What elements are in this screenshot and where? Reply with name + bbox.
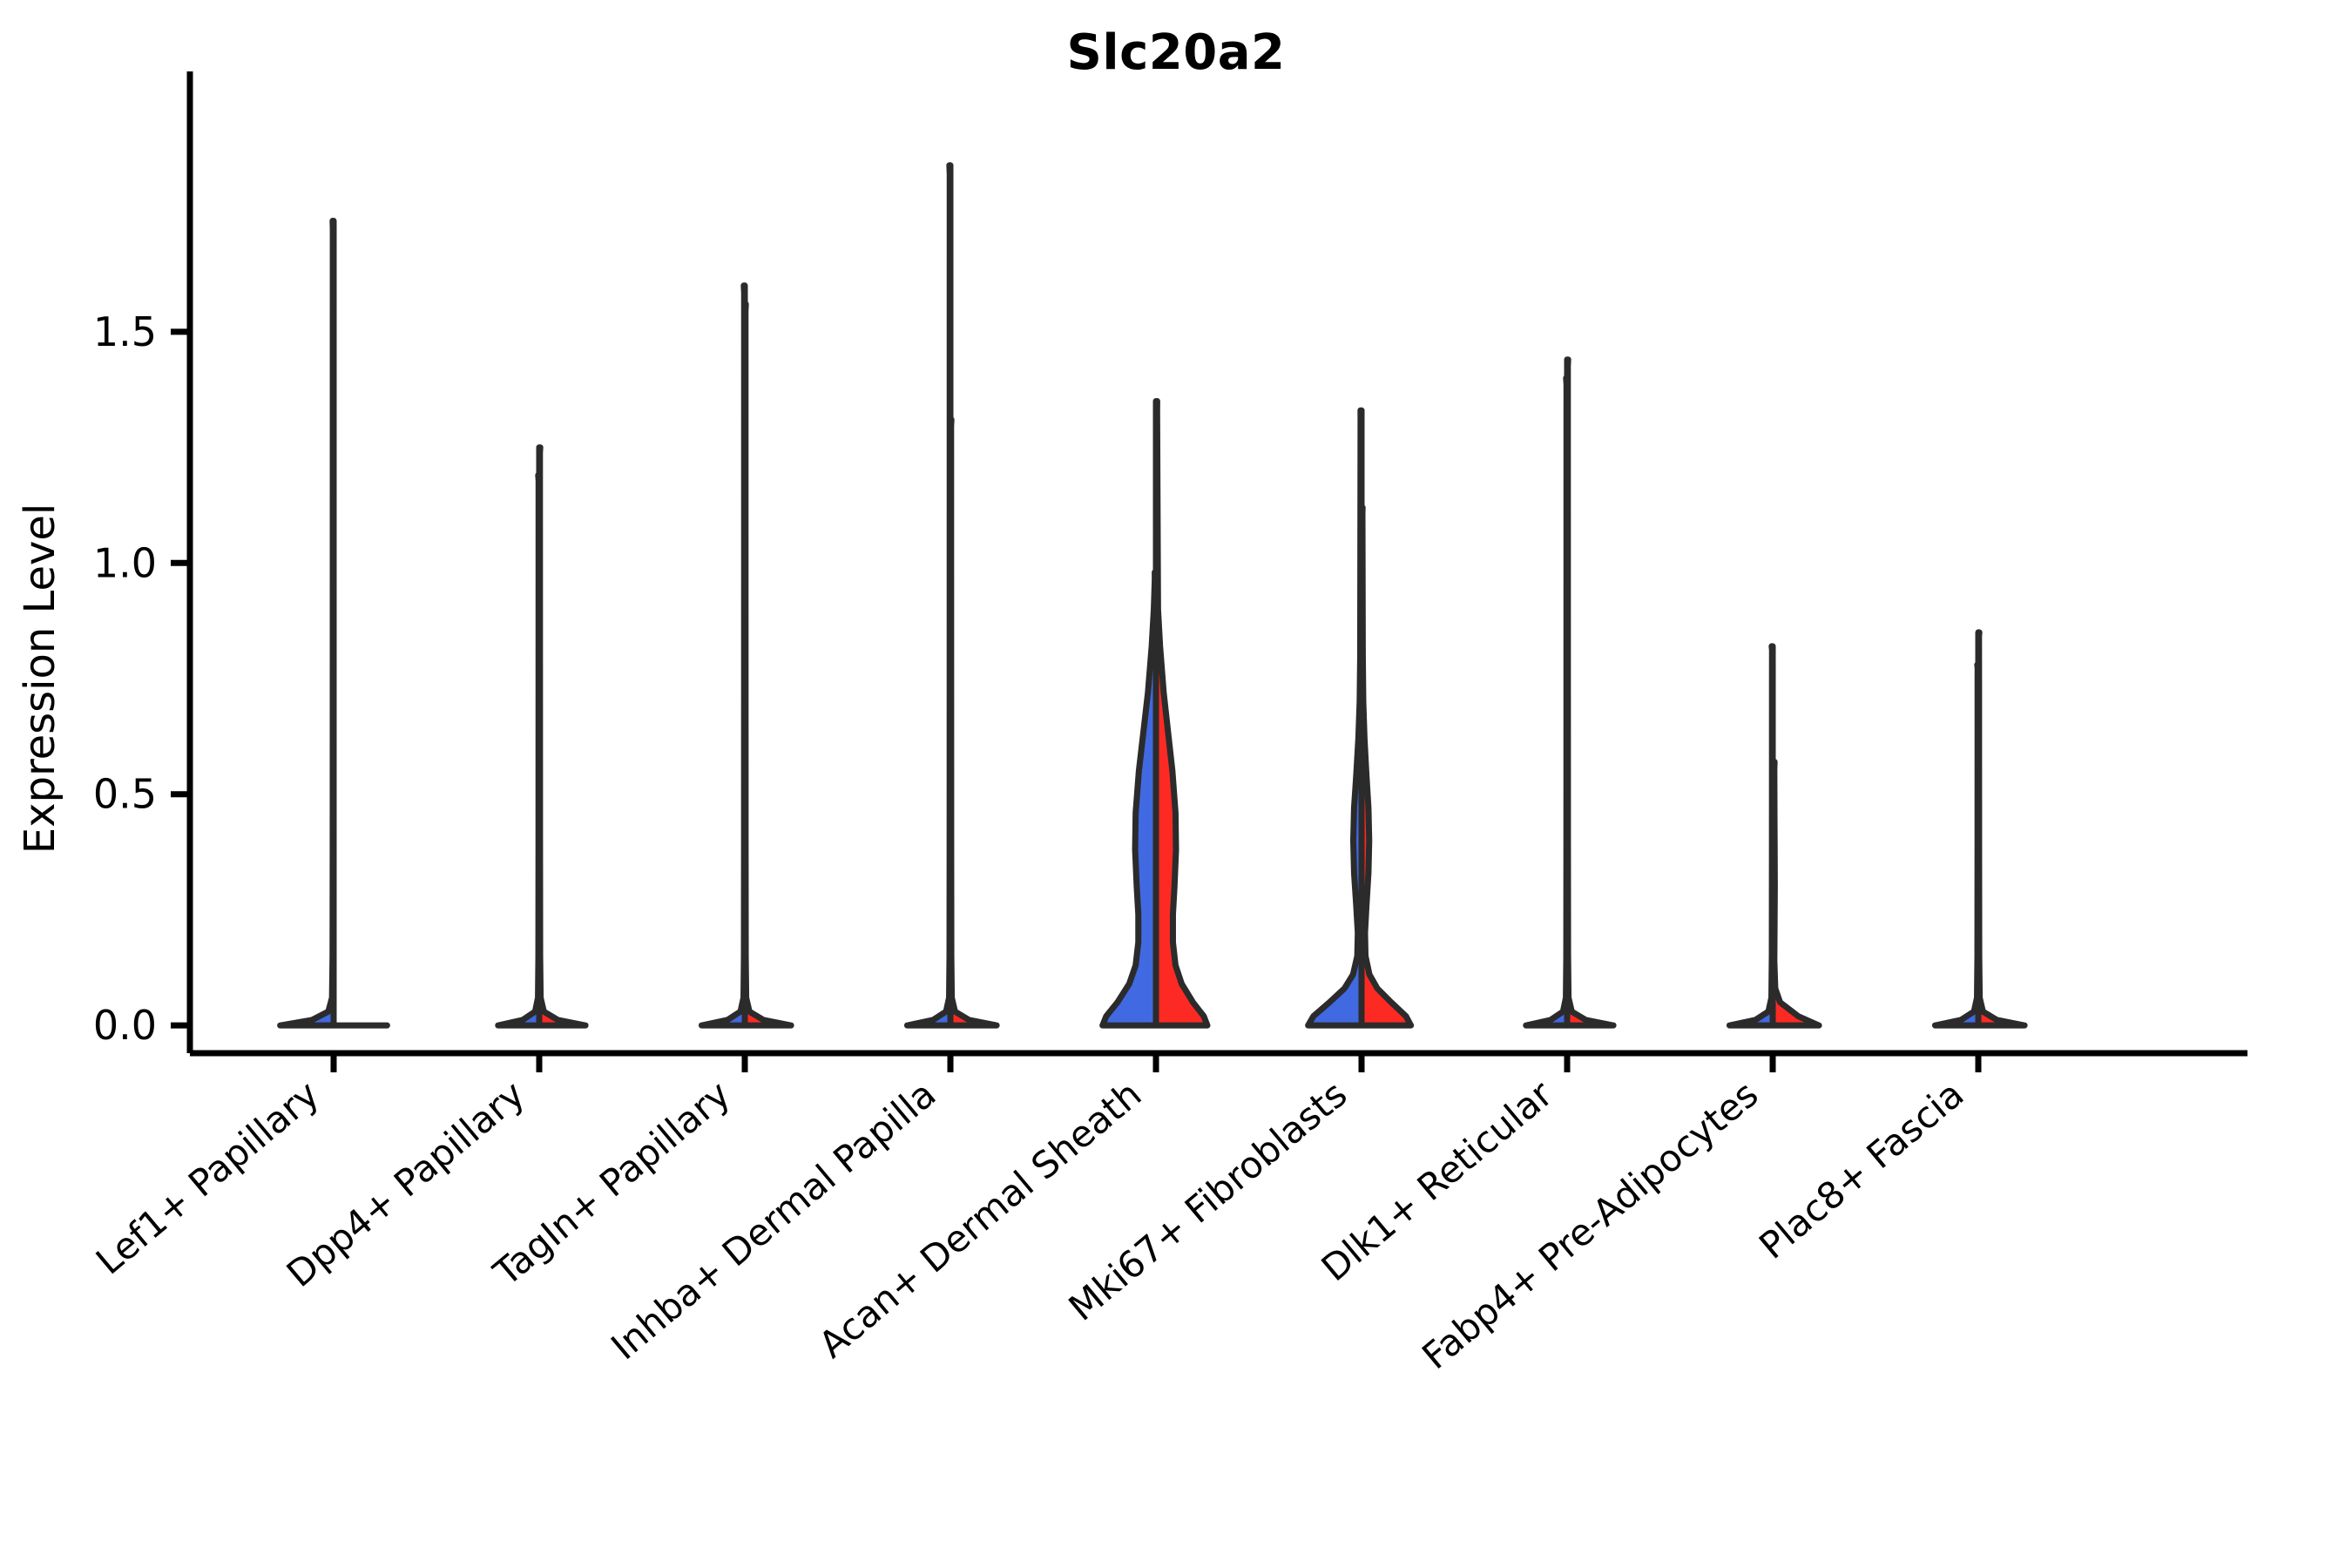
violin-6 bbox=[1308, 410, 1411, 1025]
plot-canvas: 0.00.51.01.5Expression LevelLef1+ Papill… bbox=[0, 0, 2352, 1568]
axis-labels-group: 0.00.51.01.5Expression LevelLef1+ Papill… bbox=[16, 308, 1971, 1377]
violin-plot-figure: Slc20a2 0.00.51.01.5Expression LevelLef1… bbox=[0, 0, 2352, 1568]
violin-5 bbox=[1103, 402, 1207, 1026]
violin-3 bbox=[701, 286, 791, 1025]
violin-half-red bbox=[1362, 508, 1411, 1026]
y-tick-label: 0.0 bbox=[93, 1002, 157, 1049]
y-tick-label: 1.0 bbox=[93, 539, 157, 586]
violin-half-blue bbox=[1308, 410, 1362, 1025]
violin-2 bbox=[498, 448, 585, 1026]
violin-half-blue bbox=[907, 166, 950, 1025]
violin-half-blue bbox=[280, 220, 334, 1025]
violin-4 bbox=[907, 166, 997, 1025]
violin-half-blue bbox=[1103, 572, 1156, 1025]
violin-half-blue bbox=[1935, 665, 1978, 1025]
x-tick-label: Fabp4+ Pre-Adipocytes bbox=[1414, 1072, 1766, 1377]
violin-9 bbox=[1935, 632, 2024, 1025]
violin-half-red bbox=[745, 304, 791, 1025]
violin-half-red bbox=[539, 448, 585, 1026]
violin-8 bbox=[1729, 646, 1819, 1025]
violin-half-red bbox=[950, 420, 997, 1025]
violin-half-red bbox=[1567, 360, 1613, 1025]
violin-half-red bbox=[1978, 632, 2024, 1025]
violin-half-blue bbox=[1526, 378, 1567, 1025]
violin-half-red bbox=[1773, 762, 1819, 1026]
violin-half-blue bbox=[498, 475, 539, 1025]
violin-half-blue bbox=[701, 286, 745, 1025]
y-tick-label: 0.5 bbox=[93, 771, 157, 818]
violin-half-blue bbox=[1729, 646, 1773, 1025]
y-axis-title: Expression Level bbox=[16, 504, 64, 855]
violins-group bbox=[280, 166, 2024, 1025]
x-tick-label: Plac8+ Fascia bbox=[1751, 1072, 1971, 1267]
x-tick-label: Acan+ Dermal Sheath bbox=[811, 1072, 1150, 1366]
axes-group bbox=[171, 71, 2247, 1072]
violin-1 bbox=[280, 220, 388, 1025]
x-tick-label: Inhba+ Dermal Papilla bbox=[603, 1072, 943, 1368]
violin-half-red bbox=[1156, 402, 1207, 1026]
y-tick-label: 1.5 bbox=[93, 308, 157, 355]
violin-7 bbox=[1526, 360, 1613, 1025]
